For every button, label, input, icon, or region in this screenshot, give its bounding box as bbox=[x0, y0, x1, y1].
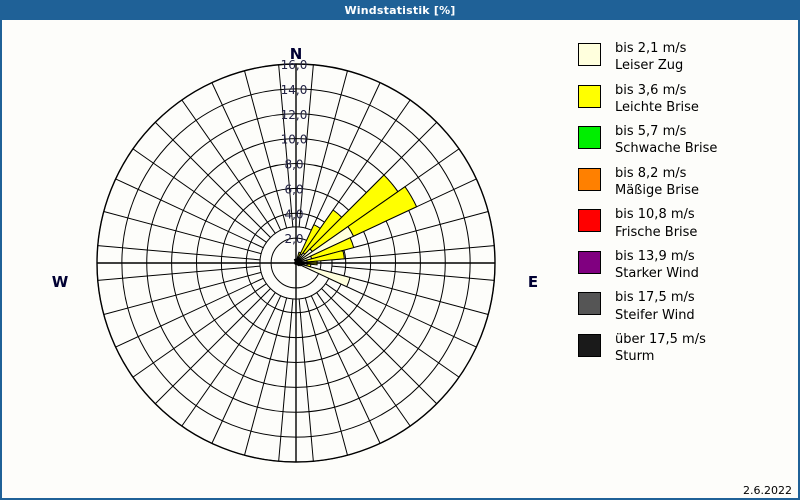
grid-spoke bbox=[116, 278, 264, 347]
compass-label-north: N bbox=[278, 47, 314, 62]
grid-spoke bbox=[182, 100, 275, 233]
legend-speed-range: über 17,5 m/s bbox=[615, 331, 706, 348]
radial-tick-label: 2,0 bbox=[284, 232, 303, 246]
legend-beaufort-name: Frische Brise bbox=[615, 224, 697, 241]
legend-beaufort-name: Leichte Brise bbox=[615, 99, 699, 116]
legend-item[interactable]: bis 2,1 m/sLeiser Zug bbox=[578, 40, 793, 75]
grid-spoke bbox=[305, 71, 347, 228]
date-stamp: 2.6.2022 bbox=[743, 484, 792, 497]
radial-tick-label: 4,0 bbox=[284, 207, 303, 221]
wind-rose-chart: 2,04,06,08,010,012,014,016,0 N S W E bbox=[0, 20, 560, 500]
legend-speed-range: bis 8,2 m/s bbox=[615, 165, 699, 182]
legend-item[interactable]: bis 13,9 m/sStarker Wind bbox=[578, 248, 793, 283]
grid-spoke bbox=[116, 179, 264, 248]
grid-spoke bbox=[305, 298, 347, 455]
legend-item[interactable]: bis 5,7 m/sSchwache Brise bbox=[578, 123, 793, 158]
grid-spoke bbox=[326, 284, 459, 377]
radial-tick-labels: 2,04,06,08,010,012,014,016,0 bbox=[281, 58, 308, 246]
radial-tick-label: 10,0 bbox=[281, 133, 308, 147]
legend-item[interactable]: bis 10,8 m/sFrische Brise bbox=[578, 206, 793, 241]
grid-spoke bbox=[133, 149, 266, 242]
legend-speed-range: bis 10,8 m/s bbox=[615, 206, 697, 223]
legend-label: bis 8,2 m/sMäßige Brise bbox=[615, 165, 699, 200]
legend-speed-range: bis 3,6 m/s bbox=[615, 82, 699, 99]
legend-beaufort-name: Leiser Zug bbox=[615, 57, 686, 74]
legend-color-swatch bbox=[578, 251, 601, 274]
legend-label: über 17,5 m/sSturm bbox=[615, 331, 706, 366]
legend-beaufort-name: Sturm bbox=[615, 348, 706, 365]
legend-speed-range: bis 5,7 m/s bbox=[615, 123, 717, 140]
legend-item[interactable]: bis 8,2 m/sMäßige Brise bbox=[578, 165, 793, 200]
legend-color-swatch bbox=[578, 168, 601, 191]
legend-beaufort-name: Starker Wind bbox=[615, 265, 699, 282]
grid-spoke bbox=[311, 296, 380, 444]
wind-rose-svg: 2,04,06,08,010,012,014,016,0 bbox=[0, 20, 560, 500]
legend-label: bis 13,9 m/sStarker Wind bbox=[615, 248, 699, 283]
radial-tick-label: 6,0 bbox=[284, 182, 303, 196]
compass-label-west: W bbox=[42, 275, 78, 290]
legend-color-swatch bbox=[578, 334, 601, 357]
radial-tick-label: 8,0 bbox=[284, 158, 303, 172]
legend-beaufort-name: Schwache Brise bbox=[615, 140, 717, 157]
legend-item[interactable]: über 17,5 m/sSturm bbox=[578, 331, 793, 366]
legend-label: bis 10,8 m/sFrische Brise bbox=[615, 206, 697, 241]
legend-label: bis 2,1 m/sLeiser Zug bbox=[615, 40, 686, 75]
radial-tick-label: 12,0 bbox=[281, 108, 308, 122]
grid-spoke bbox=[331, 272, 488, 314]
legend-color-swatch bbox=[578, 209, 601, 232]
grid-spoke bbox=[329, 278, 477, 347]
wind-speed-legend: bis 2,1 m/sLeiser Zugbis 3,6 m/sLeichte … bbox=[578, 40, 793, 373]
legend-speed-range: bis 2,1 m/s bbox=[615, 40, 686, 57]
legend-item[interactable]: bis 3,6 m/sLeichte Brise bbox=[578, 82, 793, 117]
legend-color-swatch bbox=[578, 85, 601, 108]
legend-speed-range: bis 13,9 m/s bbox=[615, 248, 699, 265]
legend-beaufort-name: Steifer Wind bbox=[615, 307, 695, 324]
grid-spoke bbox=[104, 212, 261, 254]
window-title: Windstatistik [%] bbox=[344, 4, 455, 17]
grid-spoke bbox=[245, 298, 287, 455]
legend-label: bis 5,7 m/sSchwache Brise bbox=[615, 123, 717, 158]
grid-spoke bbox=[133, 284, 266, 377]
legend-speed-range: bis 17,5 m/s bbox=[615, 289, 695, 306]
grid-spoke bbox=[212, 83, 281, 231]
legend-color-swatch bbox=[578, 126, 601, 149]
window-title-bar: Windstatistik [%] bbox=[0, 0, 800, 20]
legend-label: bis 17,5 m/sSteifer Wind bbox=[615, 289, 695, 324]
wind-rose-petals bbox=[294, 175, 416, 287]
legend-color-swatch bbox=[578, 43, 601, 66]
legend-item[interactable]: bis 17,5 m/sSteifer Wind bbox=[578, 289, 793, 324]
grid-spoke bbox=[182, 293, 275, 426]
wind-statistics-window: Windstatistik [%] 2,04,06,08,010,012,014… bbox=[0, 0, 800, 500]
legend-color-swatch bbox=[578, 292, 601, 315]
legend-label: bis 3,6 m/sLeichte Brise bbox=[615, 82, 699, 117]
compass-label-east: E bbox=[515, 275, 551, 290]
radial-tick-label: 14,0 bbox=[281, 83, 308, 97]
grid-spoke bbox=[104, 272, 261, 314]
legend-beaufort-name: Mäßige Brise bbox=[615, 182, 699, 199]
grid-spoke bbox=[212, 296, 281, 444]
grid-spoke bbox=[317, 293, 410, 426]
